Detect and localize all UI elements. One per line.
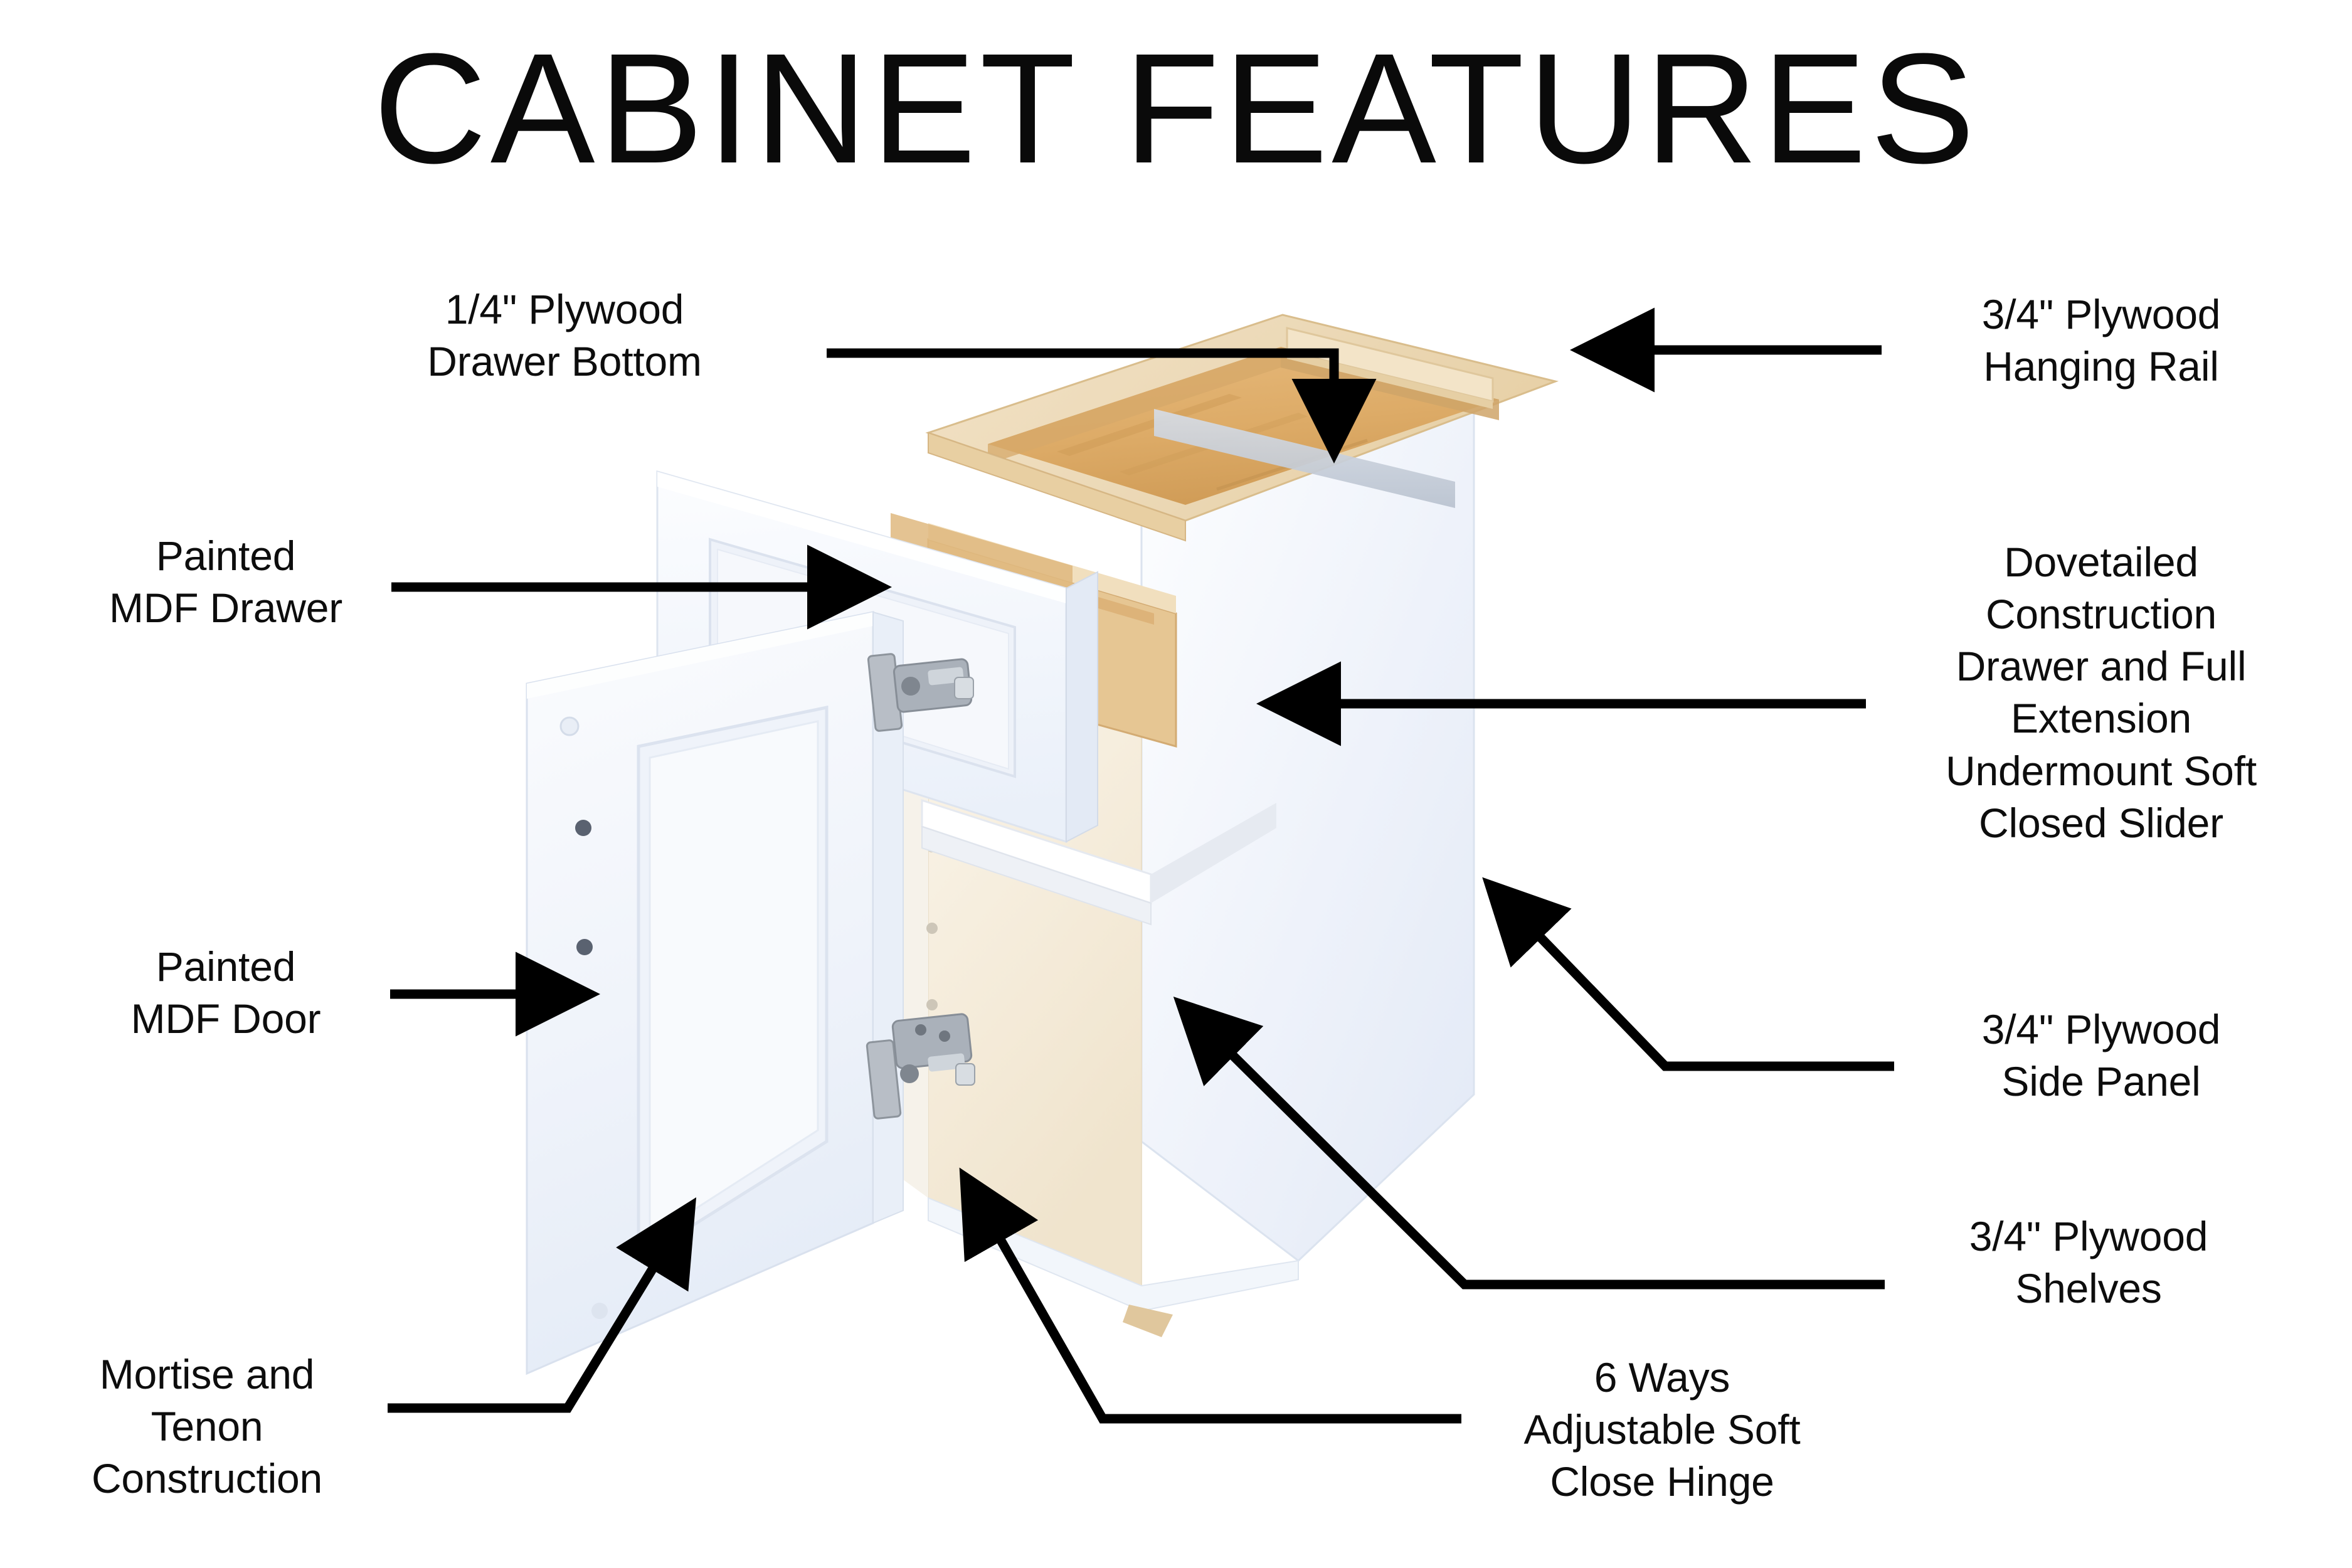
page-title: CABINET FEATURES xyxy=(0,26,2352,191)
infographic-canvas: CABINET FEATURES xyxy=(0,0,2352,1568)
callout-painted-door: Painted MDF Door xyxy=(69,941,383,1045)
callout-mortise-tenon: Mortise and Tenon Construction xyxy=(38,1348,376,1505)
callout-side-panel: 3/4" Plywood Side Panel xyxy=(1900,1004,2302,1108)
callout-hanging-rail: 3/4" Plywood Hanging Rail xyxy=(1894,289,2308,393)
callout-dovetail: Dovetailed Construction Drawer and Full … xyxy=(1869,536,2333,849)
cabinet-door xyxy=(527,612,903,1374)
cabinet-side-panel xyxy=(1142,395,1474,1261)
callout-painted-drawer: Painted MDF Drawer xyxy=(69,530,383,634)
callout-drawer-bottom: 1/4" Plywood Drawer Bottom xyxy=(364,283,765,388)
cabinet-illustration xyxy=(489,245,1668,1424)
callout-shelves: 3/4" Plywood Shelves xyxy=(1888,1210,2289,1315)
callout-hinge: 6 Ways Adjustable Soft Close Hinge xyxy=(1461,1352,1863,1508)
